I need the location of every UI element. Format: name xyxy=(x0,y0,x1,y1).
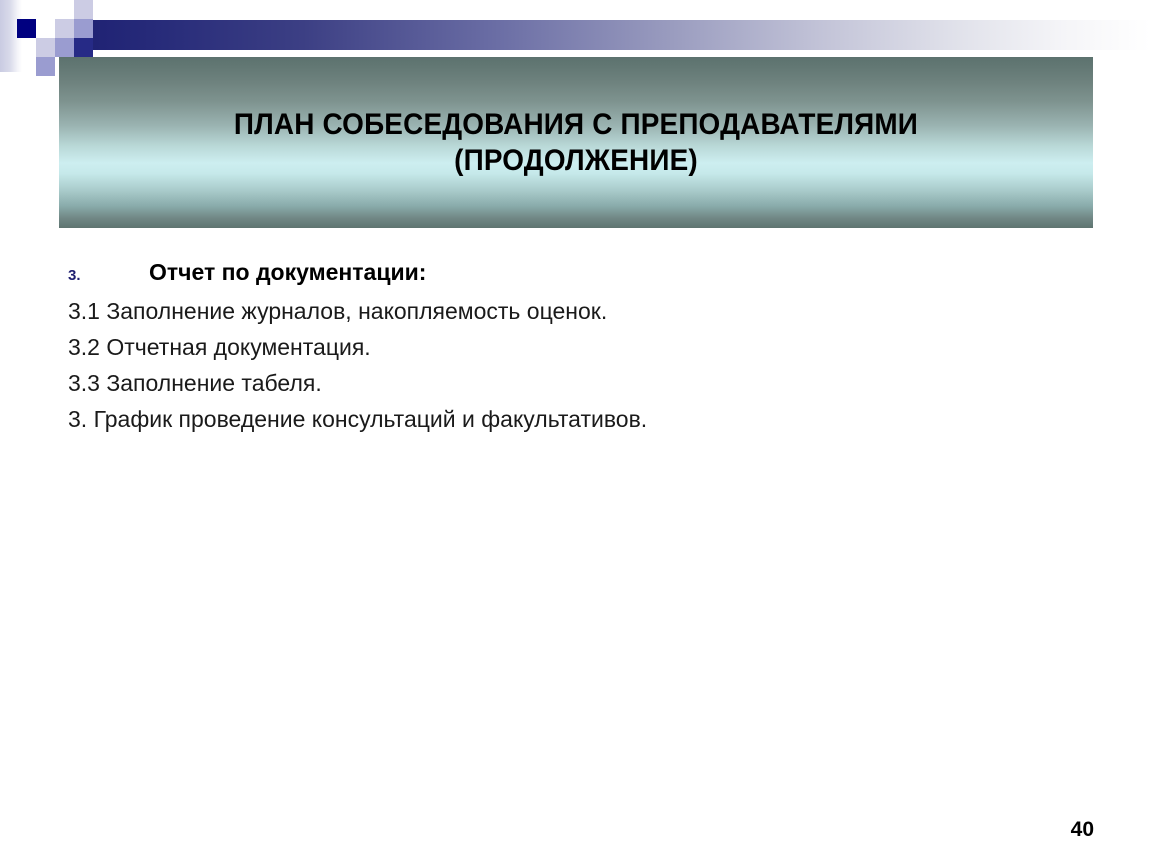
square-navy-dark xyxy=(17,19,36,38)
title-line-2: (ПРОДОЛЖЕНИЕ) xyxy=(95,143,1057,179)
left-fade-band xyxy=(0,0,22,72)
body-line: 3. График проведение консультаций и факу… xyxy=(68,401,1068,437)
square-lavender-a xyxy=(36,0,55,19)
square-lavender-c xyxy=(74,0,93,19)
title-banner: ПЛАН СОБЕСЕДОВАНИЯ С ПРЕПОДАВАТЕЛЯМИ (ПР… xyxy=(59,57,1093,228)
page-number: 40 xyxy=(1071,818,1094,842)
page-title: ПЛАН СОБЕСЕДОВАНИЯ С ПРЕПОДАВАТЕЛЯМИ (ПР… xyxy=(95,107,1057,179)
square-lavender-f xyxy=(36,38,55,57)
body-line: 3.3 Заполнение табеля. xyxy=(68,365,1068,401)
body-line: 3.1 Заполнение журналов, накопляемость о… xyxy=(68,293,1068,329)
list-marker: 3. xyxy=(68,260,81,292)
body-line: 3.2 Отчетная документация. xyxy=(68,329,1068,365)
content-body: 3. Отчет по документации: 3.1 Заполнение… xyxy=(68,256,1068,437)
square-lavender-b xyxy=(55,0,74,19)
list-heading: 3. Отчет по документации: xyxy=(68,256,1068,288)
slide-canvas: ПЛАН СОБЕСЕДОВАНИЯ С ПРЕПОДАВАТЕЛЯМИ (ПР… xyxy=(0,0,1150,864)
title-line-1: ПЛАН СОБЕСЕДОВАНИЯ С ПРЕПОДАВАТЕЛЯМИ xyxy=(95,107,1057,143)
top-accent-bar xyxy=(64,20,1150,50)
list-heading-text: Отчет по документации: xyxy=(149,256,426,288)
square-lavender-i xyxy=(36,57,55,76)
